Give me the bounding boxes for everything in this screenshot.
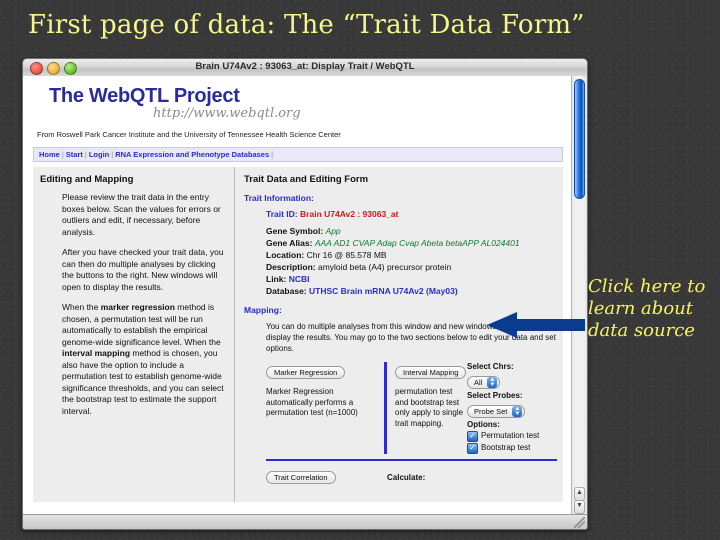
permutation-test-label: Permutation test	[481, 430, 539, 441]
trait-id-label: Trait ID:	[266, 209, 298, 219]
scroll-up-arrow-icon[interactable]: ▲	[574, 487, 585, 501]
left-paragraph-1: Please review the trait data in the entr…	[62, 192, 227, 238]
select-chrs-label: Select Chrs:	[467, 362, 553, 371]
field-value: App	[326, 226, 341, 236]
field-gene-symbol: Gene Symbol: App	[266, 226, 557, 237]
field-gene-alias: Gene Alias: AAA AD1 CVAP Adap Cvap Abeta…	[266, 238, 557, 249]
method-note-part3: method is chosen, you also have the opti…	[62, 348, 224, 416]
database-link[interactable]: UTHSC Brain mRNA U74Av2 (May03)	[309, 286, 458, 296]
nav-link-home[interactable]: Home	[39, 150, 60, 159]
scroll-down-arrow-icon[interactable]: ▼	[574, 500, 585, 514]
calculate-label: Calculate:	[387, 473, 425, 482]
select-chrs-value: All	[474, 378, 487, 387]
page-columns: Editing and Mapping Please review the tr…	[33, 167, 563, 502]
trait-id-value: Brain U74Av2 : 93063_at	[300, 209, 398, 219]
field-label: Database:	[266, 286, 307, 296]
slide-title: First page of data: The “Trait Data Form…	[28, 10, 585, 40]
interval-mapping-note: permutation test and bootstrap test only…	[395, 387, 467, 429]
field-label: Description:	[266, 262, 316, 272]
field-label: Gene Alias:	[266, 238, 312, 248]
left-paragraph-2: After you have checked your trait data, …	[62, 247, 227, 293]
nav-link-start[interactable]: Start	[66, 150, 83, 159]
checkbox-checked-icon[interactable]: ✓	[467, 431, 478, 442]
resize-grip-icon[interactable]	[574, 517, 585, 528]
field-link: Link: NCBI	[266, 274, 557, 285]
marker-regression-group: Marker Regression Marker Regression auto…	[266, 362, 384, 454]
bottom-controls: Trait Correlation Calculate:	[266, 467, 557, 485]
bootstrap-test-label: Bootstrap test	[481, 442, 530, 453]
interval-mapping-button[interactable]: Interval Mapping	[395, 366, 466, 379]
trait-information-label: Trait Information:	[244, 193, 557, 203]
controls-divider	[384, 362, 387, 454]
method-note-bold2: interval mapping	[62, 348, 130, 358]
left-column: Editing and Mapping Please review the tr…	[33, 167, 235, 502]
nav-link-login[interactable]: Login	[89, 150, 109, 159]
trait-correlation-group: Trait Correlation	[266, 467, 384, 485]
select-probes-label: Select Probes:	[467, 391, 553, 400]
left-column-heading: Editing and Mapping	[40, 174, 227, 185]
site-url: http://www.webqtl.org	[153, 106, 563, 121]
field-value: AAA AD1 CVAP Adap Cvap Abeta betaAPP AL0…	[315, 238, 520, 248]
annotation-callout-text: Click here to learn about data source	[588, 276, 716, 342]
marker-regression-note: Marker Regression automatically performs…	[266, 387, 378, 419]
field-value: amyloid beta (A4) precursor protein	[318, 262, 451, 272]
annotation-arrow-icon	[487, 311, 585, 339]
field-label: Link:	[266, 274, 286, 284]
field-description: Description: amyloid beta (A4) precursor…	[266, 262, 557, 273]
mapping-controls: Marker Regression Marker Regression auto…	[266, 362, 557, 454]
select-chrs-dropdown[interactable]: All ▲▼	[467, 376, 500, 389]
chevron-updown-icon: ▲▼	[512, 406, 522, 417]
method-note-part1: When the	[62, 302, 101, 312]
field-value: Chr 16 @ 85.578 MB	[307, 250, 387, 260]
options-panel: Select Chrs: All ▲▼ Select Probes: Probe…	[467, 362, 553, 454]
nav-separator: |	[269, 150, 275, 159]
nav-link-databases[interactable]: RNA Expression and Phenotype Databases	[115, 150, 269, 159]
select-probes-value: Probe Set	[474, 407, 512, 416]
marker-regression-button[interactable]: Marker Regression	[266, 366, 345, 379]
calculate-group: Calculate:	[387, 467, 425, 485]
vertical-scrollbar[interactable]: ▲ ▼	[571, 76, 587, 515]
interval-mapping-group: Interval Mapping permutation test and bo…	[395, 362, 467, 454]
window-content: The WebQTL Project http://www.webqtl.org…	[23, 76, 587, 515]
select-probes-dropdown[interactable]: Probe Set ▲▼	[467, 405, 525, 418]
browser-window: Brain U74Av2 : 93063_at: Display Trait /…	[22, 58, 588, 530]
trait-correlation-button[interactable]: Trait Correlation	[266, 471, 336, 484]
ncbi-link[interactable]: NCBI	[289, 274, 310, 284]
method-note-bold1: marker regression	[101, 302, 175, 312]
section-divider	[266, 459, 557, 461]
window-titlebar[interactable]: Brain U74Av2 : 93063_at: Display Trait /…	[23, 59, 587, 77]
field-label: Gene Symbol:	[266, 226, 323, 236]
form-heading: Trait Data and Editing Form	[244, 174, 557, 185]
field-location: Location: Chr 16 @ 85.578 MB	[266, 250, 557, 261]
chevron-updown-icon: ▲▼	[487, 377, 497, 388]
bootstrap-test-option[interactable]: ✓ Bootstrap test	[467, 442, 553, 454]
options-label: Options:	[467, 420, 553, 429]
trait-id-row: Trait ID: Brain U74Av2 : 93063_at	[266, 209, 557, 219]
checkbox-checked-icon[interactable]: ✓	[467, 443, 478, 454]
site-affiliation: From Roswell Park Cancer Institute and t…	[37, 130, 563, 139]
field-label: Location:	[266, 250, 304, 260]
field-database: Database: UTHSC Brain mRNA U74Av2 (May03…	[266, 286, 557, 297]
page-viewport: The WebQTL Project http://www.webqtl.org…	[23, 76, 571, 515]
site-navbar: Home|Start|Login|RNA Expression and Phen…	[33, 147, 563, 162]
left-method-note: When the marker regression method is cho…	[62, 302, 227, 417]
scrollbar-thumb[interactable]	[574, 79, 585, 199]
window-title: Brain U74Av2 : 93063_at: Display Trait /…	[23, 61, 587, 72]
permutation-test-option[interactable]: ✓ Permutation test	[467, 430, 553, 442]
site-logo-title: The WebQTL Project	[49, 85, 563, 108]
window-statusbar	[23, 514, 587, 529]
